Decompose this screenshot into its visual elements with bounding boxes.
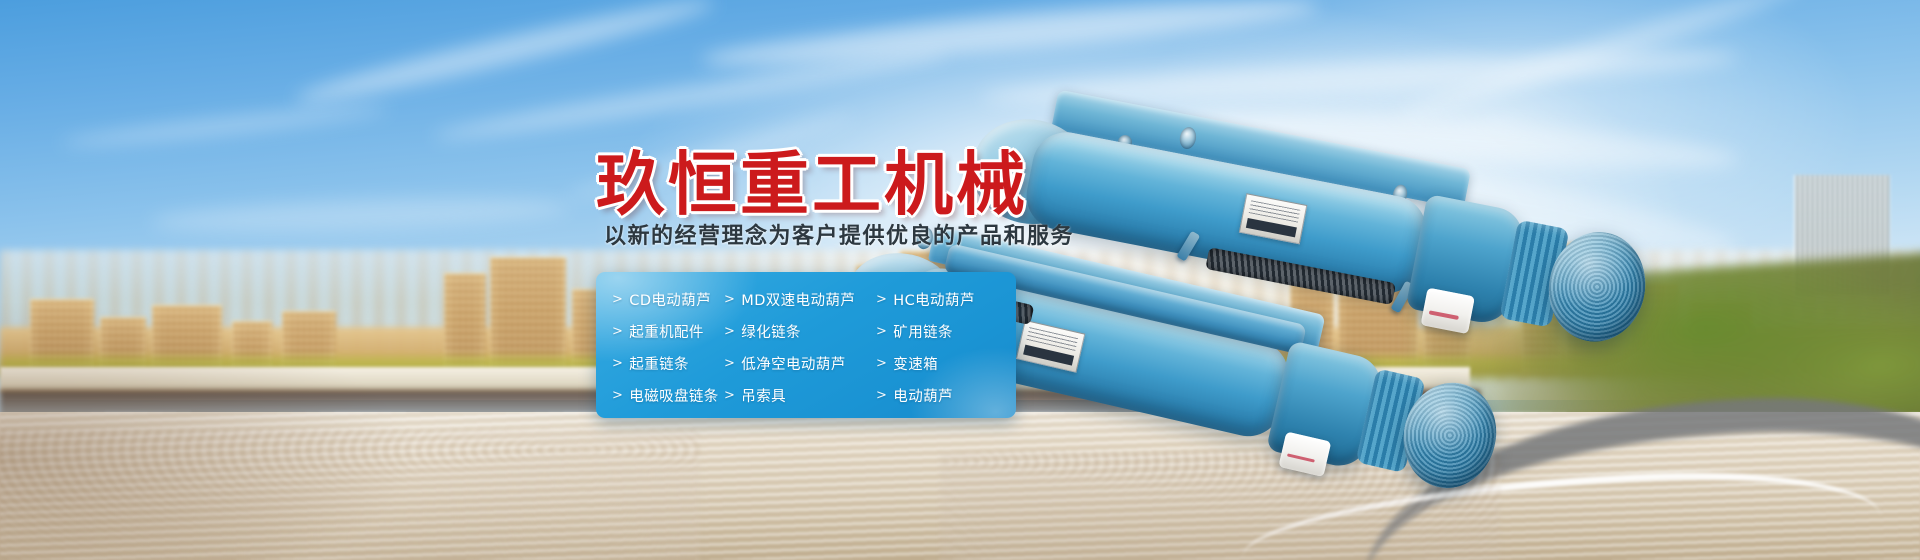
product-link[interactable]: >电动葫芦 bbox=[876, 379, 1016, 411]
product-link[interactable]: >CD电动葫芦 bbox=[612, 283, 724, 315]
product-link-label: CD电动葫芦 bbox=[629, 289, 711, 310]
chevron-right-icon: > bbox=[724, 388, 735, 403]
product-link[interactable]: >变速箱 bbox=[876, 347, 1016, 379]
product-link[interactable]: >起重链条 bbox=[612, 347, 724, 379]
page-subtitle: 以新的经营理念为客户提供优良的产品和服务 bbox=[604, 218, 1074, 250]
product-link-label: HC电动葫芦 bbox=[893, 289, 974, 310]
chevron-right-icon: > bbox=[612, 292, 623, 307]
product-links-grid: >CD电动葫芦>MD双速电动葫芦>HC电动葫芦>起重机配件>绿化链条>矿用链条>… bbox=[596, 272, 1016, 418]
chevron-right-icon: > bbox=[612, 324, 623, 339]
product-link[interactable]: >绿化链条 bbox=[724, 315, 862, 347]
product-link-label: 电磁吸盘链条 bbox=[629, 385, 718, 406]
product-link-label: 起重链条 bbox=[629, 353, 689, 374]
product-link[interactable]: >电磁吸盘链条 bbox=[612, 379, 724, 411]
chevron-right-icon: > bbox=[876, 356, 887, 371]
product-link[interactable]: >起重机配件 bbox=[612, 315, 724, 347]
motor-junction-box bbox=[1421, 288, 1475, 334]
product-link-label: 变速箱 bbox=[893, 353, 938, 374]
chevron-right-icon: > bbox=[724, 356, 735, 371]
product-link[interactable]: >MD双速电动葫芦 bbox=[724, 283, 862, 315]
product-link[interactable]: >吊索具 bbox=[724, 379, 862, 411]
chevron-right-icon: > bbox=[612, 388, 623, 403]
chevron-right-icon: > bbox=[876, 388, 887, 403]
chevron-right-icon: > bbox=[724, 292, 735, 307]
product-link-label: MD双速电动葫芦 bbox=[741, 289, 855, 310]
product-link[interactable]: >低净空电动葫芦 bbox=[724, 347, 862, 379]
product-link[interactable]: >HC电动葫芦 bbox=[876, 283, 1016, 315]
page-title: 玖恒重工机械 bbox=[596, 128, 1028, 228]
chevron-right-icon: > bbox=[876, 324, 887, 339]
chevron-right-icon: > bbox=[612, 356, 623, 371]
chevron-right-icon: > bbox=[724, 324, 735, 339]
product-link-label: 矿用链条 bbox=[893, 321, 953, 342]
product-link-label: 起重机配件 bbox=[629, 321, 704, 342]
product-link-label: 低净空电动葫芦 bbox=[741, 353, 845, 374]
product-link[interactable]: >矿用链条 bbox=[876, 315, 1016, 347]
product-link-label: 电动葫芦 bbox=[893, 385, 953, 406]
product-link-label: 绿化链条 bbox=[741, 321, 801, 342]
chevron-right-icon: > bbox=[876, 292, 887, 307]
product-links-panel: >CD电动葫芦>MD双速电动葫芦>HC电动葫芦>起重机配件>绿化链条>矿用链条>… bbox=[596, 272, 1016, 418]
hero-banner: 玖恒重工机械 以新的经营理念为客户提供优良的产品和服务 >CD电动葫芦>MD双速… bbox=[0, 0, 1920, 560]
product-link-label: 吊索具 bbox=[741, 385, 786, 406]
